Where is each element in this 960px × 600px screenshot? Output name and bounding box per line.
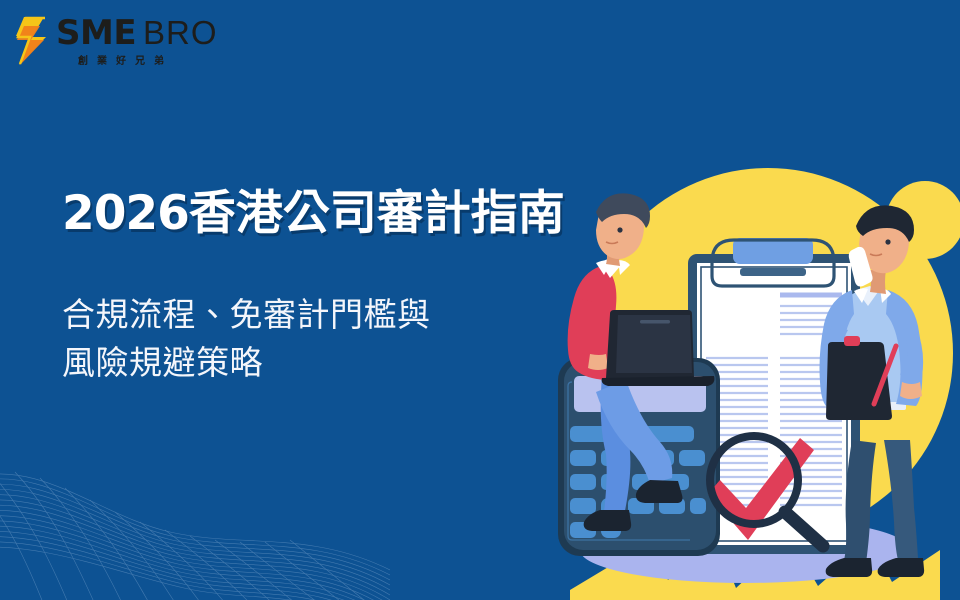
lightning-bolt-icon [14, 16, 58, 66]
copy-block: 2026香港公司審計指南 合規流程、免審計門檻與 風險規避策略 [62, 186, 622, 387]
subtitle-line-2: 風險規避策略 [62, 339, 622, 387]
audit-illustration [540, 150, 960, 600]
title-rest: 香港公司審計指南 [189, 186, 565, 239]
title-year: 2026 [62, 186, 189, 241]
banner-root: SME BRO 創業好兄弟 2026香港公司審計指南 合規流程、免審計門檻與 風… [0, 0, 960, 600]
subtitle-line-1: 合規流程、免審計門檻與 [62, 291, 622, 339]
brand-logo[interactable]: SME BRO 創業好兄弟 [14, 16, 214, 78]
page-title: 2026香港公司審計指南 [62, 186, 622, 241]
page-subtitle: 合規流程、免審計門檻與 風險規避策略 [62, 291, 622, 387]
logo-tagline: 創業好兄弟 [78, 52, 218, 67]
logo-bro-text: BRO [143, 16, 218, 49]
wireframe-wave-pattern [0, 420, 390, 600]
logo-sme-text: SME [56, 16, 136, 50]
